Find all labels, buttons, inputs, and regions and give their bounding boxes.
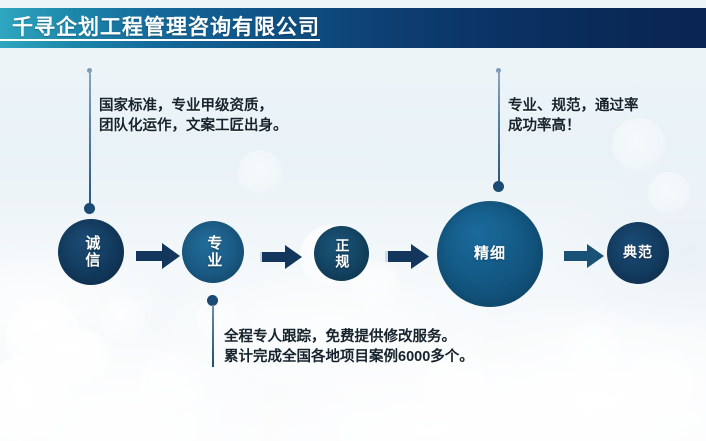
page-title: 千寻企划工程管理咨询有限公司 [0,15,320,41]
connector-line-bottom [212,305,214,367]
callout-top-right-line1: 专业、规范，通过率 [508,96,639,116]
flow-node-zhuanye[interactable]: 专业 [182,221,244,283]
connector-dot-bottom [84,203,95,214]
callout-bottom-line2: 累计完成全国各地项目案例6000多个。 [224,347,474,367]
title-bar: 千寻企划工程管理咨询有限公司 [0,8,706,48]
callout-bottom-line1: 全程专人跟踪，免费提供修改服务。 [224,327,474,347]
flow-node-zhenggui[interactable]: 正规 [314,226,369,281]
flow-node-jingxi[interactable]: 精细 [437,201,543,307]
callout-top-left-line1: 国家标准，专业甲级资质， [99,96,288,116]
background-cloud-texture [0,0,706,441]
slide-canvas: 千寻企划工程管理咨询有限公司 国家标准，专业甲级资质， 团队化运作，文案工匠出身… [0,0,706,441]
flow-arrow-icon [564,244,604,268]
callout-top-left: 国家标准，专业甲级资质， 团队化运作，文案工匠出身。 [99,96,288,136]
flow-node-label: 正规 [334,238,350,270]
flow-node-label: 诚信 [83,235,100,269]
callout-bottom: 全程专人跟踪，免费提供修改服务。 累计完成全国各地项目案例6000多个。 [224,327,474,367]
flow-arrow-icon [260,245,302,269]
flow-node-label: 典范 [623,245,653,261]
flow-node-label: 精细 [474,246,506,263]
flow-node-dianfan[interactable]: 典范 [607,222,669,284]
connector-line-left [89,71,91,208]
connector-dot-bottom [493,181,504,192]
flow-node-chengxin[interactable]: 诚信 [58,219,124,285]
flow-arrow-icon [385,244,429,269]
callout-top-right: 专业、规范，通过率 成功率高！ [508,96,639,136]
flow-arrow-icon [136,243,180,269]
flow-node-label: 专业 [205,235,222,269]
callout-top-left-line2: 团队化运作，文案工匠出身。 [99,116,288,136]
callout-top-right-line2: 成功率高！ [508,116,639,136]
connector-line-right [498,71,500,185]
